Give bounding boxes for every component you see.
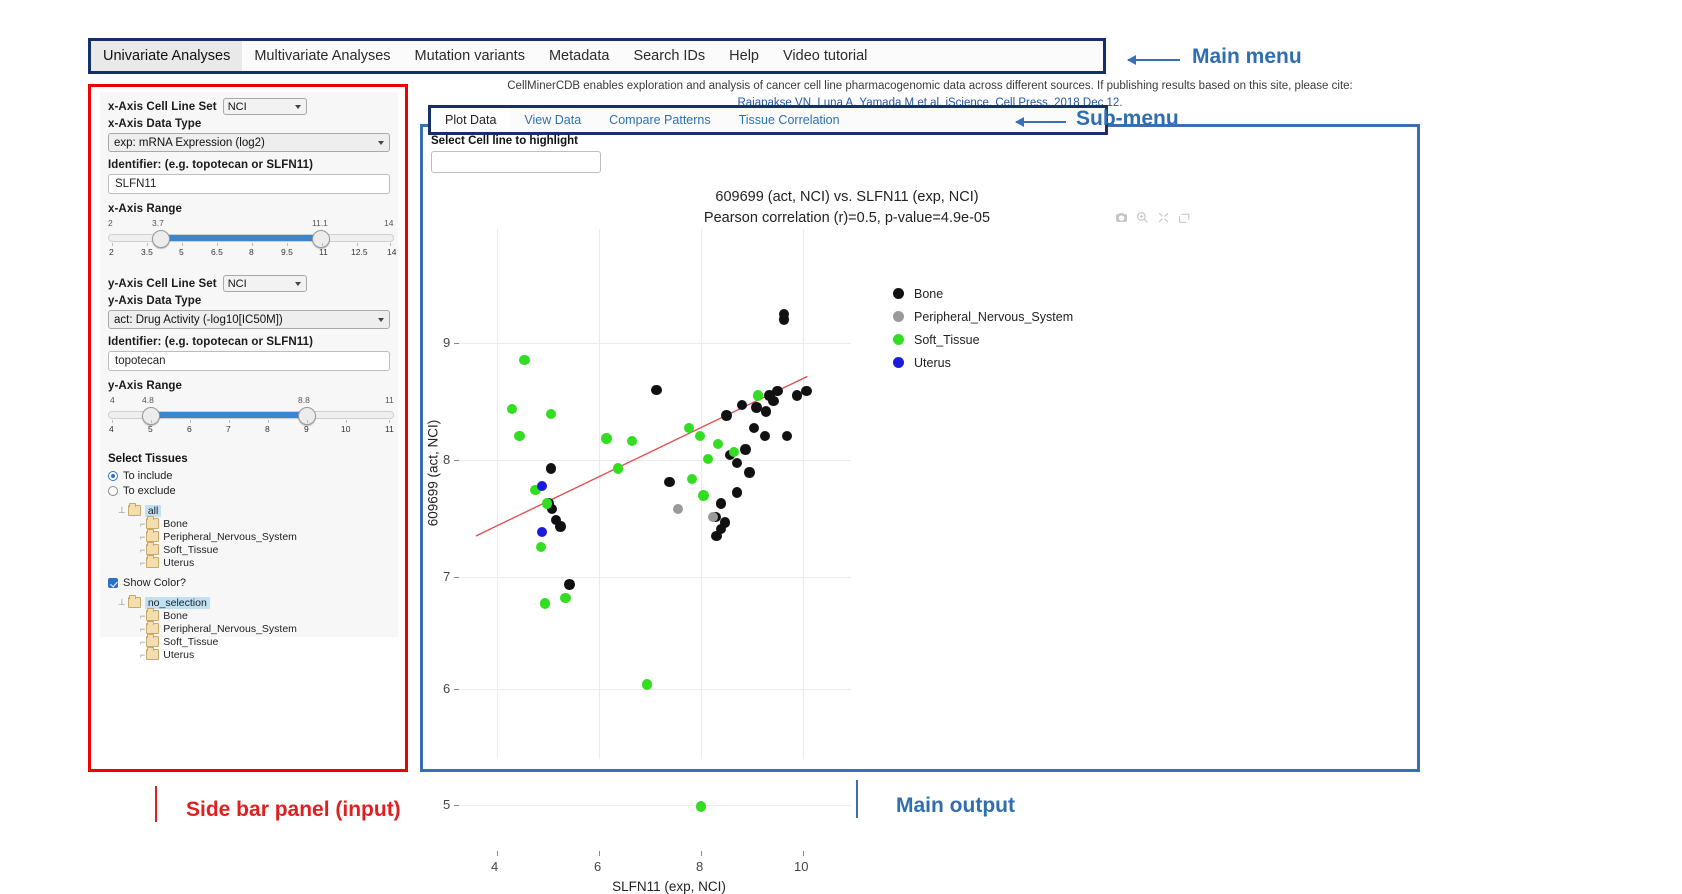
chevron-down-icon: [378, 318, 384, 322]
legend-swatch-icon: [893, 311, 904, 322]
select-tissues-title: Select Tissues: [108, 453, 390, 465]
y-tick-label: 5: [148, 424, 153, 434]
x-axis-data-type-value: exp: mRNA Expression (log2): [114, 137, 265, 149]
tree-node-label: Uterus: [163, 649, 194, 661]
legend-swatch-icon: [893, 357, 904, 368]
menu-item-search-ids[interactable]: Search IDs: [621, 41, 717, 71]
menu-item-univariate-analyses[interactable]: Univariate Analyses: [91, 41, 242, 71]
folder-icon: [128, 597, 141, 608]
data-point-uterus[interactable]: [537, 527, 547, 537]
data-point-soft-tissue[interactable]: [613, 463, 623, 473]
data-point-bone[interactable]: [782, 431, 792, 441]
tree-node-soft-tissue[interactable]: ⌐ Soft_Tissue: [118, 543, 390, 556]
tree-node-all[interactable]: ⊥ all: [118, 504, 390, 517]
x-axis-identifier-input[interactable]: SLFN11: [108, 174, 390, 194]
arrow-sub-menu: [1016, 121, 1066, 123]
radio-include-label: To include: [123, 470, 173, 482]
tree-node-label: Bone: [163, 610, 188, 622]
folder-icon: [146, 610, 159, 621]
tree-color-node-uterus[interactable]: ⌐ Uterus: [118, 648, 390, 661]
y-slider-handle-low-value: 4.8: [142, 395, 154, 405]
sidebar-inner: x-Axis Cell Line Set NCI x-Axis Data Typ…: [100, 92, 398, 637]
y-axis-cell-line-set-value: NCI: [228, 278, 247, 290]
x-tick-label: 3.5: [141, 247, 153, 257]
legend-label: Peripheral_Nervous_System: [914, 310, 1073, 324]
y-axis-data-type-select[interactable]: act: Drug Activity (-log10[IC50M]): [108, 310, 390, 329]
data-point-bone[interactable]: [564, 579, 574, 589]
tree-connector-icon: ⌐: [140, 650, 144, 660]
data-point-soft-tissue[interactable]: [540, 598, 550, 608]
folder-icon: [128, 505, 141, 516]
data-point-bone[interactable]: [744, 467, 754, 477]
x-axis-data-type-label: x-Axis Data Type: [108, 118, 390, 130]
legend-item-peripheral-nervous-system[interactable]: Peripheral_Nervous_System: [893, 305, 1073, 328]
folder-icon: [146, 557, 159, 568]
x-axis-cell-line-set-row: x-Axis Cell Line Set NCI: [108, 98, 390, 115]
y-tick-label: 10: [341, 424, 350, 434]
data-point-bone[interactable]: [749, 423, 759, 433]
x-axis-title: SLFN11 (exp, NCI): [612, 879, 726, 894]
data-point-soft-tissue[interactable]: [642, 679, 652, 689]
tab-label: Compare Patterns: [609, 113, 710, 127]
tab-plot-data[interactable]: Plot Data: [431, 108, 510, 132]
data-point-bone[interactable]: [801, 386, 811, 396]
data-point-soft-tissue[interactable]: [753, 390, 763, 400]
tissue-tree-include: ⊥ all ⌐ Bone ⌐ Peripheral_Nervous_System…: [118, 504, 390, 569]
data-point-bone[interactable]: [711, 531, 721, 541]
y-slider-min-end: 4: [110, 395, 115, 405]
x-axis-cell-line-set-value: NCI: [228, 101, 247, 113]
data-point-bone[interactable]: [651, 385, 661, 395]
tab-label: Tissue Correlation: [739, 113, 840, 127]
y-axis-cell-line-set-select[interactable]: NCI: [223, 275, 307, 292]
data-point-bone[interactable]: [768, 396, 778, 406]
data-point-bone[interactable]: [761, 406, 771, 416]
menu-item-video-tutorial[interactable]: Video tutorial: [771, 41, 879, 71]
chevron-down-icon: [295, 282, 301, 286]
folder-icon: [146, 531, 159, 542]
tree-node-label: Bone: [163, 518, 188, 530]
y-axis-cell-line-set-row: y-Axis Cell Line Set NCI: [108, 275, 390, 292]
data-point-bone[interactable]: [732, 487, 742, 497]
tab-label: Plot Data: [445, 113, 496, 127]
data-point-bone[interactable]: [740, 444, 750, 454]
data-point-soft-tissue[interactable]: [546, 409, 556, 419]
data-point-soft-tissue[interactable]: [519, 355, 529, 365]
expander-icon[interactable]: ⊥: [118, 597, 126, 608]
data-point-soft-tissue[interactable]: [703, 454, 713, 464]
x-slider-min-end: 2: [108, 218, 113, 228]
tree-node-label: Peripheral_Nervous_System: [163, 531, 297, 543]
x-slider-max-end: 14: [384, 218, 393, 228]
x-axis-data-type-select[interactable]: exp: mRNA Expression (log2): [108, 133, 390, 152]
tab-tissue-correlation[interactable]: Tissue Correlation: [725, 108, 854, 132]
y-axis-identifier-label: Identifier: (e.g. topotecan or SLFN11): [108, 336, 390, 348]
y-slider-max-end: 11: [385, 395, 394, 405]
y-tick-label: 9: [304, 424, 309, 434]
y-axis-identifier-value: topotecan: [115, 355, 166, 367]
data-point-soft-tissue[interactable]: [729, 447, 739, 457]
legend-item-soft-tissue[interactable]: Soft_Tissue: [893, 328, 1073, 351]
data-point-soft-tissue[interactable]: [507, 404, 517, 414]
tree-node-label: Soft_Tissue: [163, 544, 218, 556]
data-point-soft-tissue[interactable]: [601, 433, 611, 443]
x-tick-label: 2: [109, 247, 114, 257]
citation-text: CellMinerCDB enables exploration and ana…: [430, 78, 1430, 95]
scatter-plot: 609699 (act, NCI) vs. SLFN11 (exp, NCI) …: [427, 177, 1413, 767]
radio-to-include[interactable]: To include: [108, 470, 390, 482]
tree-node-label: no_selection: [145, 597, 210, 609]
y-axis-cell-line-set-label: y-Axis Cell Line Set: [108, 278, 217, 290]
tree-connector-icon: ⌐: [140, 611, 144, 621]
y-tick-label: 6: [187, 424, 192, 434]
data-points-layer: [427, 177, 1413, 767]
x-tick-label: 8: [249, 247, 254, 257]
data-point-soft-tissue[interactable]: [696, 801, 706, 811]
tree-node-label: all: [145, 505, 162, 517]
data-point-bone[interactable]: [546, 463, 556, 473]
legend-label: Bone: [914, 287, 943, 301]
x-tick-label: 5: [179, 247, 184, 257]
annotation-main-menu: Main menu: [1192, 45, 1302, 69]
annotation-sidebar: Side bar panel (input): [186, 798, 401, 822]
data-point-bone[interactable]: [772, 386, 782, 396]
y-axis-data-type-label: y-Axis Data Type: [108, 295, 390, 307]
tab-label: View Data: [524, 113, 581, 127]
data-point-soft-tissue[interactable]: [695, 431, 705, 441]
main-menu-bar: Univariate Analyses Multivariate Analyse…: [88, 38, 1106, 74]
y-tick-label: 4: [109, 424, 114, 434]
tree-node-label: Uterus: [163, 557, 194, 569]
y-axis-identifier-input[interactable]: topotecan: [108, 351, 390, 371]
tree-connector-icon: ⌐: [140, 624, 144, 634]
tree-color-node-soft-tissue[interactable]: ⌐ Soft_Tissue: [118, 635, 390, 648]
data-point-bone[interactable]: [737, 400, 747, 410]
radio-exclude-label: To exclude: [123, 485, 176, 497]
data-point-soft-tissue[interactable]: [698, 490, 708, 500]
x-tick-label: 11: [319, 247, 328, 257]
y-axis-data-type-value: act: Drug Activity (-log10[IC50M]): [114, 314, 283, 326]
legend-item-bone[interactable]: Bone: [893, 282, 1073, 305]
data-point-bone[interactable]: [555, 521, 565, 531]
radio-include-icon: [108, 471, 118, 481]
folder-icon: [146, 636, 159, 647]
folder-icon: [146, 649, 159, 660]
radio-exclude-icon: [108, 486, 118, 496]
menu-label: Univariate Analyses: [103, 48, 230, 64]
plot-legend: Bone Peripheral_Nervous_System Soft_Tiss…: [893, 282, 1073, 374]
radio-to-exclude[interactable]: To exclude: [108, 485, 390, 497]
folder-icon: [146, 518, 159, 529]
data-point-soft-tissue[interactable]: [684, 423, 694, 433]
data-point-uterus[interactable]: [537, 481, 547, 491]
menu-item-multivariate-analyses[interactable]: Multivariate Analyses: [242, 41, 402, 71]
data-point-soft-tissue[interactable]: [560, 593, 570, 603]
x-slider-fill: [160, 235, 320, 241]
tree-node-label: Peripheral_Nervous_System: [163, 623, 297, 635]
show-color-label: Show Color?: [123, 577, 186, 589]
menu-label: Video tutorial: [783, 48, 867, 64]
menu-label: Search IDs: [633, 48, 705, 64]
tree-connector-icon: ⌐: [140, 637, 144, 647]
tree-color-node-bone[interactable]: ⌐ Bone: [118, 609, 390, 622]
data-point-bone[interactable]: [760, 431, 770, 441]
annotation-sub-menu: Sub-menu: [1076, 107, 1179, 131]
data-point-bone[interactable]: [779, 314, 789, 324]
x-tick-label: 10: [794, 859, 808, 874]
legend-label: Soft_Tissue: [914, 333, 980, 347]
folder-icon: [146, 544, 159, 555]
data-point-bone[interactable]: [664, 477, 674, 487]
x-tick-label: 9.5: [281, 247, 293, 257]
x-tick-label: 12.5: [351, 247, 368, 257]
tree-node-bone[interactable]: ⌐ Bone: [118, 517, 390, 530]
legend-swatch-icon: [893, 334, 904, 345]
menu-item-metadata[interactable]: Metadata: [537, 41, 621, 71]
show-color-checkbox-row[interactable]: Show Color?: [108, 577, 390, 589]
tree-node-no-selection[interactable]: ⊥ no_selection: [118, 596, 390, 609]
sidebar-panel: x-Axis Cell Line Set NCI x-Axis Data Typ…: [88, 84, 408, 772]
menu-label: Metadata: [549, 48, 609, 64]
x-slider-handle-low-value: 3.7: [152, 218, 164, 228]
menu-item-mutation-variants[interactable]: Mutation variants: [403, 41, 537, 71]
tree-connector-icon: ⌐: [140, 545, 144, 555]
data-point-soft-tissue[interactable]: [713, 439, 723, 449]
checkbox-icon[interactable]: [108, 578, 118, 588]
x-tick-label: 14: [387, 247, 396, 257]
main-output-panel: Plot Data View Data Compare Patterns Tis…: [420, 124, 1420, 772]
y-tick-label: 11: [385, 424, 394, 434]
arrow-main-menu: [1128, 59, 1180, 61]
chevron-down-icon: [378, 141, 384, 145]
tree-node-peripheral-nervous-system[interactable]: ⌐ Peripheral_Nervous_System: [118, 530, 390, 543]
x-tick-label: 6.5: [211, 247, 223, 257]
y-tick-label: 7: [226, 424, 231, 434]
x-tick-label: 8: [696, 859, 703, 874]
x-slider-handle-high-value: 11.1: [312, 218, 328, 228]
y-tick-label: 5: [443, 797, 450, 812]
tree-connector-icon: ⌐: [140, 558, 144, 568]
y-axis-range-label: y-Axis Range: [108, 380, 390, 392]
sub-menu-bar: Plot Data View Data Compare Patterns Tis…: [428, 105, 1108, 135]
y-slider-fill: [150, 412, 306, 418]
tissue-tree-color: ⊥ no_selection ⌐ Bone ⌐ Peripheral_Nervo…: [118, 596, 390, 661]
expander-icon[interactable]: ⊥: [118, 505, 126, 516]
tree-color-node-peripheral-nervous-system[interactable]: ⌐ Peripheral_Nervous_System: [118, 622, 390, 635]
data-point-bone[interactable]: [732, 458, 742, 468]
x-axis-cell-line-set-label: x-Axis Cell Line Set: [108, 101, 217, 113]
data-point-peripheral-nervous-system[interactable]: [673, 504, 683, 514]
tree-node-label: Soft_Tissue: [163, 636, 218, 648]
data-point-soft-tissue[interactable]: [542, 498, 552, 508]
x-axis-identifier-label: Identifier: (e.g. topotecan or SLFN11): [108, 159, 390, 171]
legend-swatch-icon: [893, 288, 904, 299]
menu-label: Mutation variants: [415, 48, 525, 64]
tab-compare-patterns[interactable]: Compare Patterns: [595, 108, 724, 132]
x-axis-cell-line-set-select[interactable]: NCI: [223, 98, 307, 115]
data-point-soft-tissue[interactable]: [536, 542, 546, 552]
x-axis-identifier-value: SLFN11: [115, 178, 156, 190]
data-point-bone[interactable]: [721, 410, 731, 420]
y-axis-range-slider[interactable]: 4 4.8 8.8 11 4 5 6 7 8 9 10 11: [108, 395, 394, 435]
tree-connector-icon: ⌐: [140, 519, 144, 529]
x-axis-range-slider[interactable]: 2 3.7 11.1 14 2 3.5 5 6.5 8 9.5 11 12.5 …: [108, 218, 394, 258]
highlight-input[interactable]: [431, 151, 601, 173]
data-point-soft-tissue[interactable]: [514, 431, 524, 441]
menu-item-help[interactable]: Help: [717, 41, 771, 71]
legend-item-uterus[interactable]: Uterus: [893, 351, 1073, 374]
annotation-main-output: Main output: [896, 794, 1015, 818]
folder-icon: [146, 623, 159, 634]
data-point-soft-tissue[interactable]: [627, 436, 637, 446]
x-axis-range-label: x-Axis Range: [108, 203, 390, 215]
data-point-bone[interactable]: [716, 498, 726, 508]
highlight-block: Select Cell line to highlight: [431, 135, 601, 173]
x-tick-label: 6: [594, 859, 601, 874]
data-point-soft-tissue[interactable]: [687, 474, 697, 484]
arrow-sidebar: [155, 786, 157, 822]
chevron-down-icon: [295, 105, 301, 109]
tree-connector-icon: ⌐: [140, 532, 144, 542]
y-tick-label: 8: [265, 424, 270, 434]
menu-label: Help: [729, 48, 759, 64]
highlight-label: Select Cell line to highlight: [431, 135, 601, 147]
arrow-main-output: [856, 780, 858, 818]
legend-label: Uterus: [914, 356, 951, 370]
x-tick-label: 4: [491, 859, 498, 874]
tree-node-uterus[interactable]: ⌐ Uterus: [118, 556, 390, 569]
y-slider-handle-high-value: 8.8: [298, 395, 310, 405]
plot-canvas[interactable]: 9 8 7 6 5 4 6 8 10 609699 (act, NCI) SLF…: [427, 177, 1413, 767]
tab-view-data[interactable]: View Data: [510, 108, 595, 132]
menu-label: Multivariate Analyses: [254, 48, 390, 64]
